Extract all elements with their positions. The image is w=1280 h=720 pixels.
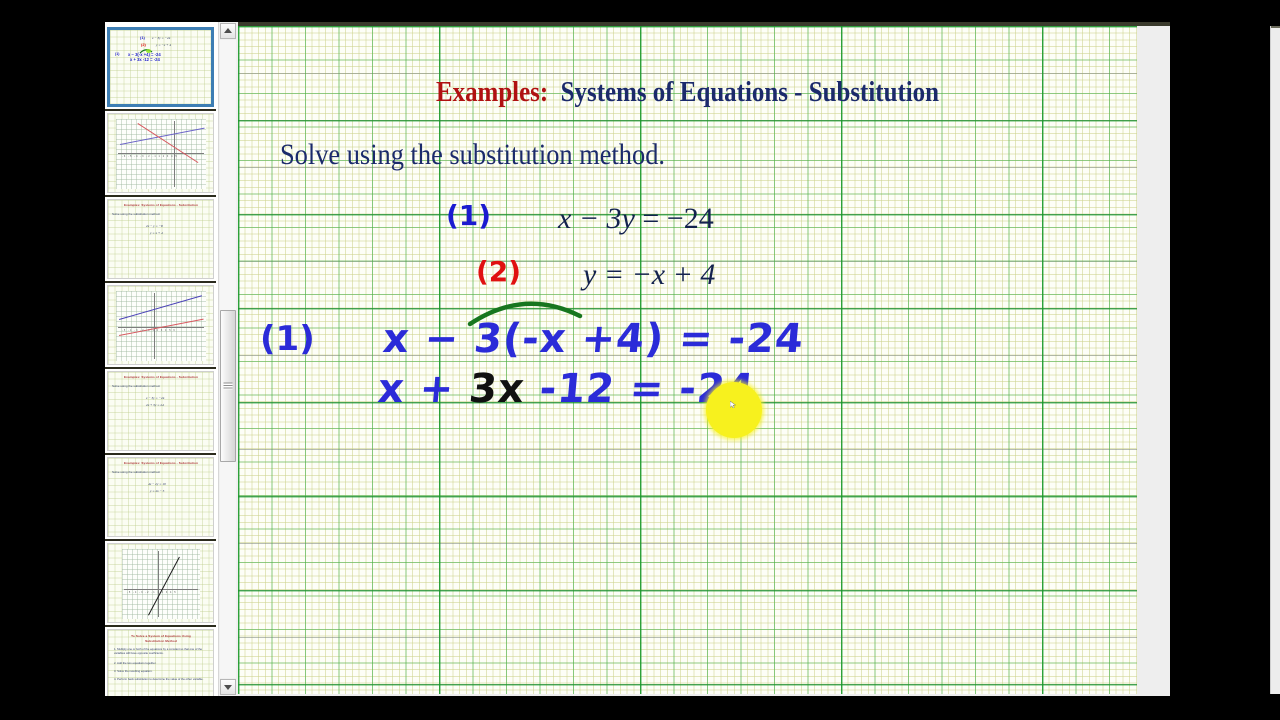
thumb8-step-4: 4. Perform back substitution to determin… — [114, 677, 209, 681]
screen: (1) x − 3y = −24 (2) y = −x + 4 (1) x − … — [0, 0, 1280, 720]
work-line-1: x − 3(-x +4) = -24 — [381, 316, 806, 362]
equation-1-highlighted-variable: y — [622, 202, 635, 235]
slide-subtitle: Solve using the substitution method. — [280, 138, 665, 172]
thumb1-eq-1: x − 3y = −24 — [152, 36, 170, 40]
current-slide[interactable]: Examples: Systems of Equations - Substit… — [238, 26, 1137, 694]
thumb8-title-line-2: Substitution Method — [112, 639, 210, 643]
slide-thumbnail-6[interactable]: Examples: Systems of Equations - Substit… — [107, 457, 214, 537]
line-black — [148, 557, 180, 616]
y-axis — [158, 551, 159, 617]
slide-thumbnail-7[interactable]: -5 -4 -3 -2 -1 1 2 3 4 5 — [107, 543, 214, 623]
list-item[interactable]: -5 -4 -3 -2 -1 1 2 3 4 5 6 — [105, 283, 216, 369]
slide-thumbnail-3[interactable]: Examples: Systems of Equations - Substit… — [107, 199, 214, 279]
scrollbar-thumb[interactable] — [220, 310, 236, 462]
mini-graph: -6 -5 -4 -3 -2 -1 1 2 3 4 5 — [116, 119, 206, 189]
work-line-2-pre: x + — [376, 366, 471, 412]
x-axis — [118, 153, 204, 154]
thumb8-title-line-1: To Solve a System of Equations Using — [112, 634, 210, 638]
x-tick-labels: -5 -4 -3 -2 -1 1 2 3 4 5 6 — [122, 329, 176, 332]
thumb1-eq-2: y = −x + 4 — [156, 43, 171, 47]
slide-thumbnail-1[interactable]: (1) x − 3y = −24 (2) y = −x + 4 (1) x − … — [107, 27, 214, 107]
page-title-prefix: Examples: — [436, 76, 548, 108]
thumb6-title: Examples: Systems of Equations - Substit… — [112, 461, 210, 465]
page-title-main: Systems of Equations - Substitution — [561, 76, 939, 108]
y-axis — [174, 121, 175, 187]
slide-thumbnail-panel[interactable]: (1) x − 3y = −24 (2) y = −x + 4 (1) x − … — [105, 22, 219, 696]
list-item[interactable]: -6 -5 -4 -3 -2 -1 1 2 3 4 5 — [105, 111, 216, 197]
thumb8-step-1: 1. Multiply one or both of the equations… — [114, 647, 209, 655]
mouse-cursor-icon — [730, 401, 737, 408]
thumb3-subtitle: Solve using the substitution method. — [112, 212, 209, 216]
line-blue — [120, 128, 205, 146]
list-item[interactable]: -5 -4 -3 -2 -1 1 2 3 4 5 — [105, 541, 216, 627]
divider — [1271, 26, 1280, 28]
thumb5-eq-1: x − 3y = −24 — [146, 396, 164, 400]
thumb5-title: Examples: Systems of Equations - Substit… — [112, 375, 210, 379]
mini-graph: -5 -4 -3 -2 -1 1 2 3 4 5 — [122, 549, 200, 619]
thumb3-title: Examples: Systems of Equations - Substit… — [112, 203, 210, 207]
equation-1-lhs: x − 3 — [558, 202, 622, 235]
slide-thumbnail-4[interactable]: -5 -4 -3 -2 -1 1 2 3 4 5 6 — [107, 285, 214, 365]
presentation-window: (1) x − 3y = −24 (2) y = −x + 4 (1) x − … — [105, 22, 1170, 696]
slide-canvas-area: Examples: Systems of Equations - Substit… — [238, 22, 1170, 696]
x-tick-labels: -6 -5 -4 -3 -2 -1 1 2 3 4 5 — [122, 155, 178, 158]
mini-graph: -5 -4 -3 -2 -1 1 2 3 4 5 6 — [116, 291, 206, 361]
thumb5-subtitle: Solve using the substitution method. — [112, 384, 209, 388]
thumb1-highlight — [146, 49, 151, 53]
equation-2-highlighted-expression: −x + 4 — [632, 258, 716, 291]
scroll-down-button[interactable] — [220, 679, 236, 695]
work-line-2: x + 3x -12 = -24 — [376, 366, 757, 412]
thumb6-eq-2: y = 2x − 5 — [150, 489, 164, 493]
equation-1-label: (1) — [446, 199, 491, 232]
slide-thumbnail-2[interactable]: -6 -5 -4 -3 -2 -1 1 2 3 4 5 — [107, 113, 214, 193]
slide-right-margin — [1270, 26, 1280, 694]
x-tick-labels: -5 -4 -3 -2 -1 1 2 3 4 5 — [127, 591, 177, 594]
thumbnail-strip: (1) x − 3y = −24 (2) y = −x + 4 (1) x − … — [105, 25, 218, 696]
thumb8-step-3: 3. Solve the resulting equation. — [114, 669, 209, 673]
work-line-2-black: 3x — [467, 366, 527, 412]
cursor-spotlight — [706, 382, 762, 438]
sidebar-vertical-scrollbar[interactable] — [218, 22, 239, 696]
thumb3-eq-2: y = x + 4 — [150, 231, 163, 235]
thumb1-hand-2: x + 3x -12 = -24 — [130, 57, 160, 62]
thumb3-eq-1: 2x − y = −8 — [146, 224, 163, 228]
page-title: Examples: Systems of Equations - Substit… — [301, 76, 1074, 109]
y-axis — [154, 293, 155, 359]
thumb6-eq-1: 4x − 2y = 10 — [148, 482, 166, 486]
scroll-up-button[interactable] — [220, 23, 236, 39]
list-item[interactable]: (1) x − 3y = −24 (2) y = −x + 4 (1) x − … — [105, 25, 216, 111]
thumb6-subtitle: Solve using the substitution method. — [112, 470, 209, 474]
slide-thumbnail-8[interactable]: To Solve a System of Equations Using Sub… — [107, 629, 214, 696]
chevron-down-icon — [224, 685, 232, 690]
list-item[interactable]: To Solve a System of Equations Using Sub… — [105, 627, 216, 696]
equation-1: x − 3y = −24 — [558, 202, 714, 236]
equation-2-label: (2) — [476, 255, 521, 288]
slide-thumbnail-5[interactable]: Examples: Systems of Equations - Substit… — [107, 371, 214, 451]
thumb1-step-label: (1) — [115, 52, 119, 56]
equation-1-rhs: = −24 — [642, 202, 713, 235]
chevron-up-icon — [224, 28, 232, 33]
line-blue — [119, 295, 202, 320]
thumb8-step-2: 2. Add the two equations together. — [114, 661, 209, 665]
thumb1-label-1: (1) — [140, 35, 145, 40]
equation-2: y = −x + 4 — [583, 258, 715, 292]
list-item[interactable]: Examples: Systems of Equations - Substit… — [105, 455, 216, 541]
thumb5-eq-2: 2x + 3y = 24 — [146, 403, 164, 407]
work-step-label: (1) — [260, 319, 315, 359]
equation-2-lhs: y = — [583, 258, 624, 291]
grip-icon — [224, 383, 233, 390]
list-item[interactable]: Examples: Systems of Equations - Substit… — [105, 369, 216, 455]
list-item[interactable]: Examples: Systems of Equations - Substit… — [105, 197, 216, 283]
